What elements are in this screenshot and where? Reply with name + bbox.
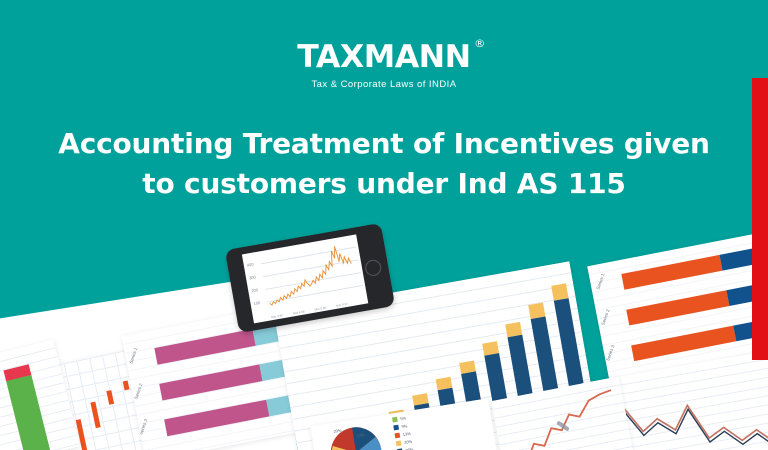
legend-item: 20% [396, 439, 413, 446]
legend-item: 13% [395, 431, 412, 438]
center-bar-cap [551, 283, 568, 300]
tablet-line-chart-svg [259, 235, 365, 311]
tablet-chart-ytick: 200 [251, 287, 258, 293]
promo-banner: Series 1 Series 2 Series 3 [0, 0, 768, 450]
tablet-chart-ytick: 100 [253, 300, 260, 306]
logo-tagline: Tax & Corporate Laws of INDIA [0, 79, 768, 90]
legend-label: 5% [400, 415, 406, 421]
tablet-chart-xtick: Mar 3 86 [271, 313, 283, 319]
tablet-chart-xtick: Mar 5 86 [314, 306, 326, 312]
tablet-chart-xtick: Mar 4 86 [293, 309, 305, 315]
page-title: Accounting Treatment of Incentives given… [50, 124, 718, 204]
brand-logo: TAXMANN ® Tax & Corporate Laws of INDIA [0, 42, 768, 90]
legend-item: 5% [392, 415, 409, 422]
logo-wordmark-text: TAXMANN [297, 39, 470, 75]
logo-wordmark: TAXMANN ® [297, 42, 470, 73]
center-bar-cap [505, 322, 522, 337]
legend-swatch [396, 440, 402, 446]
tablet-screen: 400 300 200 100 Mar 3 86 Mar 4 86 Mar 5 … [242, 234, 368, 323]
registered-trademark-icon: ® [474, 38, 485, 49]
center-bar-cap [482, 341, 499, 355]
tablet-chart-ytick: 300 [249, 274, 256, 280]
legend-label: 13% [402, 431, 411, 437]
legend-label: 20% [404, 439, 413, 445]
tablet-home-button[interactable] [364, 259, 383, 278]
legend-label: 9% [401, 423, 407, 429]
tablet-chart-ytick: 400 [246, 262, 253, 268]
right-accent-bar [752, 78, 768, 360]
center-bar-cap [528, 303, 545, 319]
legend-swatch [395, 433, 401, 439]
legend-swatch [392, 417, 398, 423]
tablet-chart-xtick: Mar 6 87 [336, 302, 348, 308]
legend-item: 9% [393, 423, 410, 430]
legend-swatch [393, 425, 399, 431]
